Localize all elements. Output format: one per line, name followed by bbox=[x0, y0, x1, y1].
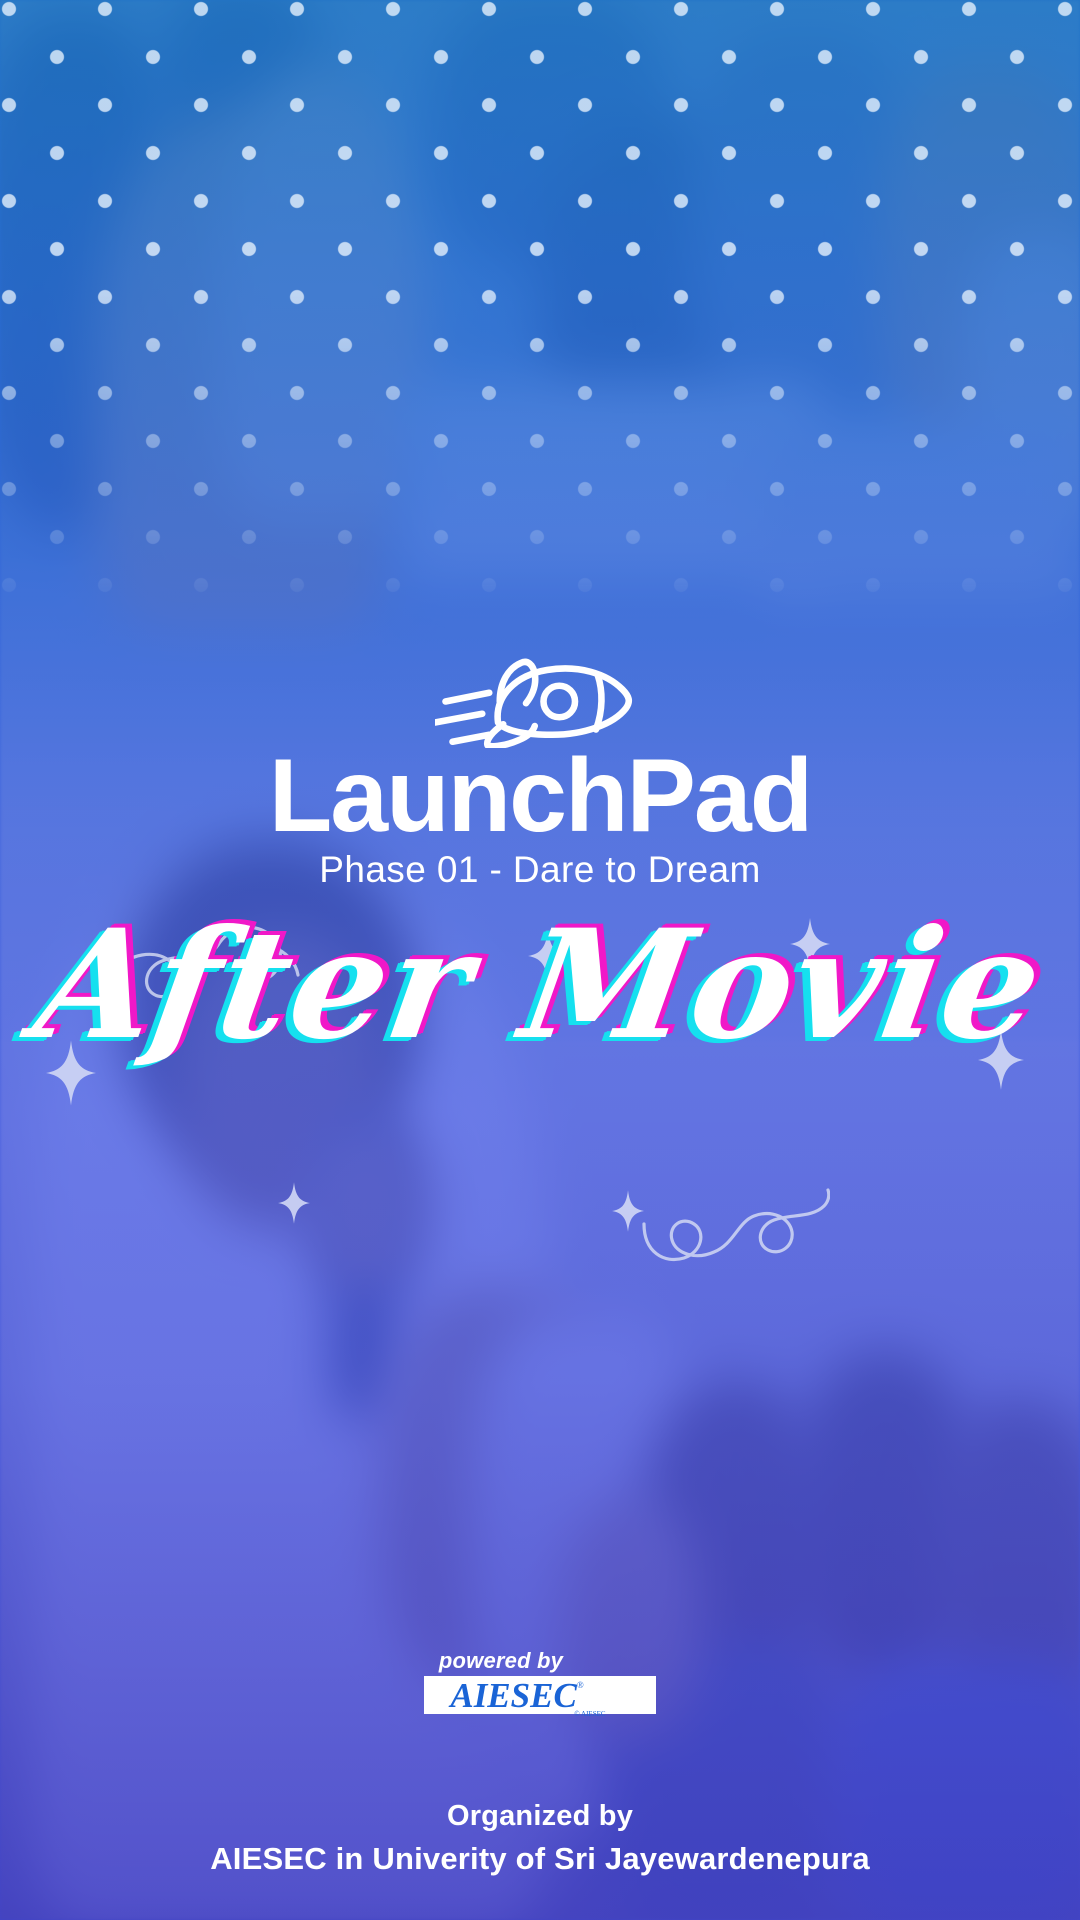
poster-canvas: LaunchPad Phase 01 - Dare to Dream After… bbox=[0, 0, 1080, 1920]
walking-people-icon bbox=[586, 1676, 648, 1714]
launchpad-wordmark: LaunchPad bbox=[0, 742, 1080, 851]
aiesec-trademark-symbol: ® bbox=[577, 1680, 584, 1690]
aiesec-copyright-text: © AIESEC bbox=[574, 1710, 605, 1718]
powered-by-label: powered by bbox=[0, 1648, 1080, 1674]
aiesec-wordmark: AIESEC bbox=[450, 1678, 576, 1713]
poster-content: LaunchPad Phase 01 - Dare to Dream After… bbox=[0, 0, 1080, 1920]
phase-subtitle: Phase 01 - Dare to Dream bbox=[0, 849, 1080, 891]
aiesec-logo-bar: AIESEC ® bbox=[424, 1676, 655, 1714]
aiesec-logo-block: powered by AIESEC ® © AI bbox=[0, 1648, 1080, 1716]
launchpad-logo-block: LaunchPad Phase 01 - Dare to Dream bbox=[0, 648, 1080, 891]
sparkle-star-icon bbox=[612, 1190, 644, 1232]
loop-swirl-icon bbox=[640, 1160, 830, 1270]
after-movie-headline: After Movie bbox=[27, 910, 1053, 1060]
organizer-block: Organized by AIESEC in Univerity of Sri … bbox=[0, 1800, 1080, 1877]
after-movie-headline-wrap: After Movie bbox=[0, 910, 1080, 1120]
organizer-name: AIESEC in Univerity of Sri Jayewardenepu… bbox=[0, 1841, 1080, 1877]
aiesec-logo: AIESEC ® © AIESEC bbox=[424, 1676, 655, 1716]
organized-by-label: Organized by bbox=[0, 1800, 1080, 1833]
rocket-icon bbox=[435, 648, 645, 748]
sparkle-star-icon bbox=[278, 1182, 310, 1224]
